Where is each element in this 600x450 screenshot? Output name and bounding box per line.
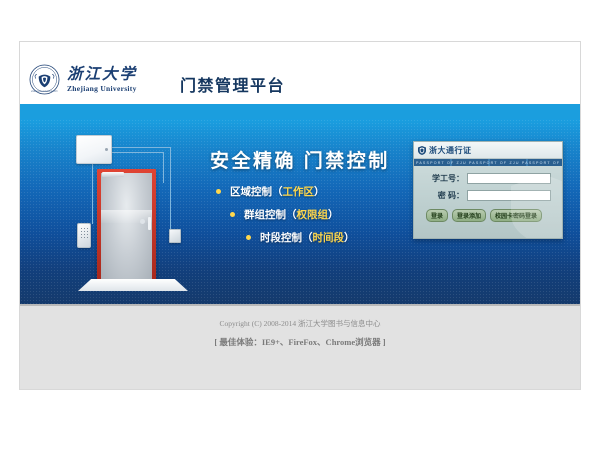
login-panel-title: 浙大通行证 [429,145,472,156]
feature-accent: 时间段 [313,230,345,245]
feature-label: 群组控制（ [244,207,297,222]
userid-input[interactable] [467,173,551,184]
login-panel-title-bar: 浙大通行证 [414,142,562,159]
feature-tail: ） [328,207,339,222]
footer-browser-note: [ 最佳体验：IE9+、FireFox、Chrome浏览器 ] [20,336,580,348]
wire-top-2 [109,152,164,153]
login-button-row: 登录 登录添加 校园卡密码登录 [420,207,556,222]
userid-label: 学工号： [420,173,467,184]
brand-name-cn: 浙江大学 [67,67,137,83]
feature-item-group: 群组控制（ 权限组 ） [230,207,355,222]
wire-top [109,147,171,148]
page-title: 门禁管理平台 [180,72,285,96]
password-label: 密 码： [420,190,467,201]
site-footer: Copyright (C) 2008-2014 浙江大学图书与信息中心 [ 最佳… [20,304,580,390]
login-add-button[interactable]: 登录添加 [452,209,486,222]
campus-card-login-button[interactable]: 校园卡密码登录 [490,209,542,222]
floor-plate [78,279,188,291]
shield-icon [418,146,426,155]
wire-right [170,147,171,230]
password-input[interactable] [467,190,551,201]
footer-copyright: Copyright (C) 2008-2014 浙江大学图书与信息中心 [20,318,580,329]
feature-item-area: 区域控制（ 工作区 ） [216,184,355,199]
zju-seal-icon: ZHEJIANG UNIVERSITY [29,64,60,95]
page-frame: ZHEJIANG UNIVERSITY 浙江大学 Zhejiang Univer… [19,41,581,390]
access-control-illustration [56,133,196,301]
svg-text:ZHEJIANG UNIVERSITY: ZHEJIANG UNIVERSITY [31,90,58,93]
login-panel-watermark-strip: PASSPORT OF ZJU PASSPORT OF ZJU PASSPORT… [414,159,562,166]
field-row-password: 密 码： [420,190,556,201]
feature-label: 区域控制（ [230,184,283,199]
door-closer [102,172,124,177]
feature-accent: 工作区 [283,184,315,199]
access-controller-box [76,135,112,164]
wire-right-2 [163,152,164,183]
feature-label: 时段控制（ [260,230,313,245]
wire-left [92,161,93,224]
field-row-userid: 学工号： [420,173,556,184]
bullet-dot-icon [246,235,251,240]
login-panel: 浙大通行证 PASSPORT OF ZJU PASSPORT OF ZJU PA… [413,141,563,239]
feature-accent: 权限组 [297,207,329,222]
brand-name-en: Zhejiang University [67,85,137,93]
bullet-dot-icon [230,212,235,217]
door-leaf [101,173,152,281]
feature-item-time: 时段控制（ 时间段 ） [246,230,355,245]
login-button[interactable]: 登录 [426,209,448,222]
brand-logo[interactable]: ZHEJIANG UNIVERSITY 浙江大学 Zhejiang Univer… [29,64,137,95]
card-reader [169,229,181,243]
keypad-reader [77,223,91,248]
door-knob [140,219,145,224]
door-handle [148,217,151,230]
feature-tail: ） [314,184,325,199]
hero-banner: 安全精确 门禁控制 区域控制（ 工作区 ） 群组控制（ 权限组 ） 时段控制（ … [20,119,580,304]
site-header: ZHEJIANG UNIVERSITY 浙江大学 Zhejiang Univer… [20,42,580,104]
login-form: 学工号： 密 码： 登录 登录添加 校园卡密码登录 [414,166,562,222]
watermark-strip-text: PASSPORT OF ZJU PASSPORT OF ZJU PASSPORT… [414,161,562,165]
bullet-dot-icon [216,189,221,194]
hero-headline: 安全精确 门禁控制 [210,146,390,173]
feature-list: 区域控制（ 工作区 ） 群组控制（ 权限组 ） 时段控制（ 时间段 ） [216,184,355,253]
accent-band [20,104,580,119]
feature-tail: ） [344,230,355,245]
